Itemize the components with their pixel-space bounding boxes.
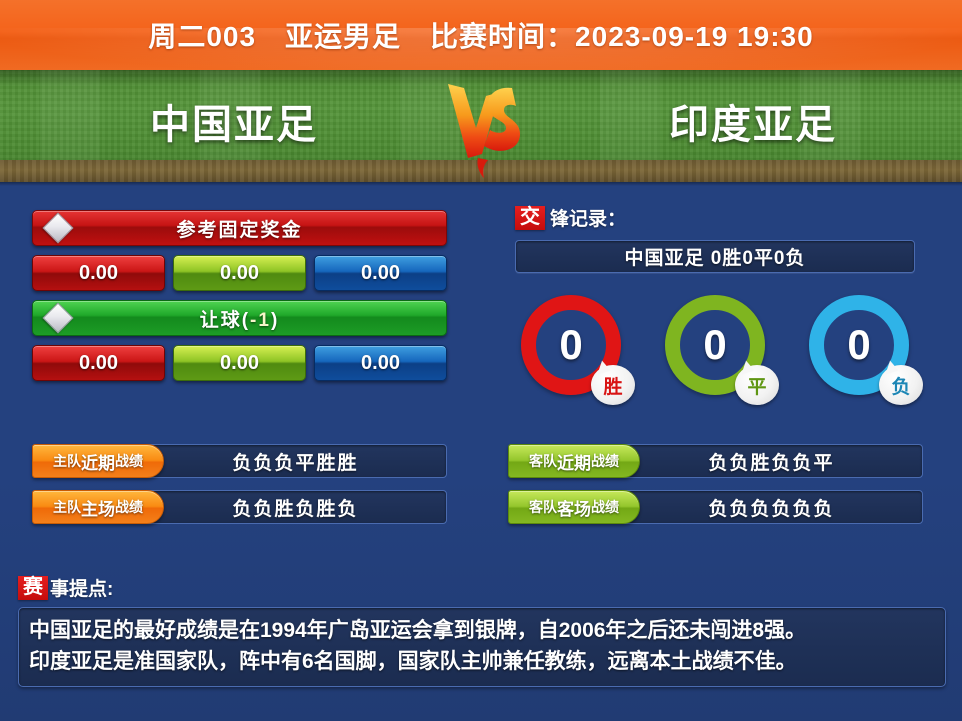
h2h-section-header: 交 锋记录：: [515, 204, 915, 231]
away-away-form-value: 负负负负负负: [708, 494, 834, 521]
match-header-title: 周二003 亚运男足 比赛时间：2023-09-19 19:30: [148, 15, 813, 55]
away-form-block: 负负胜负负平 客队近期战绩 负负负负负负 客队客场战绩: [508, 444, 923, 536]
tag-part-b: 近期: [81, 449, 115, 474]
tag-part-a: 客队: [529, 451, 557, 471]
away-away-form-row: 负负负负负负 客队客场战绩: [508, 490, 923, 524]
handicap-header: 让球(-1): [32, 300, 447, 336]
handicap-odds-row: 0.00 0.00 0.00: [32, 345, 447, 381]
notes-chip-icon: 赛: [18, 576, 48, 600]
tag-part-b: 近期: [557, 449, 591, 474]
h2h-win-badge: 胜: [591, 365, 635, 405]
h2h-summary-text: 中国亚足 0胜0平0负: [625, 243, 806, 270]
away-recent-form-row: 负负胜负负平 客队近期战绩: [508, 444, 923, 478]
home-recent-form-value: 负负负平胜胜: [232, 448, 358, 475]
match-header-bar: 周二003 亚运男足 比赛时间：2023-09-19 19:30: [0, 0, 962, 70]
h2h-ring-draw: 0 平: [665, 295, 765, 395]
away-team-name: 印度亚足: [669, 92, 837, 150]
fixed-odds-home[interactable]: 0.00: [32, 255, 165, 291]
home-form-block: 负负负平胜胜 主队近期战绩 负负胜负胜负 主队主场战绩: [32, 444, 447, 536]
h2h-ring-lose: 0 负: [809, 295, 909, 395]
odds-panel: 参考固定奖金 0.00 0.00 0.00 让球(-1) 0.00 0.00 0…: [32, 210, 447, 390]
fixed-odds-away[interactable]: 0.00: [314, 255, 447, 291]
fixed-prize-odds-row: 0.00 0.00 0.00: [32, 255, 447, 291]
main-content-area: 参考固定奖金 0.00 0.00 0.00 让球(-1) 0.00 0.00 0…: [0, 182, 962, 721]
notes-box: 中国亚足的最好成绩是在1994年广岛亚运会拿到银牌，自2006年之后还未闯进8强…: [18, 607, 946, 687]
h2h-rings: 0 胜 0 平 0 负: [515, 295, 915, 395]
pitch-banner: 中国亚足 印度亚足: [0, 70, 962, 182]
note-line: 中国亚足的最好成绩是在1994年广岛亚运会拿到银牌，自2006年之后还未闯进8强…: [29, 615, 935, 646]
diamond-icon: [42, 212, 73, 243]
h2h-lose-badge: 负: [879, 365, 923, 405]
h2h-draw-badge: 平: [735, 365, 779, 405]
notes-section-title: 事提点:: [50, 574, 113, 601]
handicap-odds-home[interactable]: 0.00: [32, 345, 165, 381]
notes-section-header: 赛 事提点:: [18, 574, 946, 601]
h2h-section-title: 锋记录：: [550, 204, 626, 231]
tag-part-c: 战绩: [115, 451, 143, 471]
tag-part-c: 战绩: [115, 497, 143, 517]
tag-part-a: 主队: [53, 451, 81, 471]
handicap-value: -1: [250, 310, 271, 331]
home-team-name: 中国亚足: [150, 92, 318, 150]
home-home-form-tag: 主队主场战绩: [32, 490, 164, 524]
away-away-form-tag: 客队客场战绩: [508, 490, 640, 524]
note-line: 印度亚足是准国家队，阵中有6名国脚，国家队主帅兼任教练，远离本土战绩不佳。: [29, 646, 935, 677]
home-recent-form-row: 负负负平胜胜 主队近期战绩: [32, 444, 447, 478]
away-recent-form-value: 负负胜负负平: [708, 448, 834, 475]
vs-icon: [426, 76, 536, 180]
tag-part-c: 战绩: [591, 451, 619, 471]
home-recent-form-tag: 主队近期战绩: [32, 444, 164, 478]
tag-part-a: 主队: [53, 497, 81, 517]
fixed-prize-header: 参考固定奖金: [32, 210, 447, 246]
handicap-prefix: 让球(: [200, 310, 250, 331]
h2h-ring-win: 0 胜: [521, 295, 621, 395]
h2h-summary-bar: 中国亚足 0胜0平0负: [515, 240, 915, 273]
tag-part-b: 主场: [81, 495, 115, 520]
handicap-suffix: ): [271, 310, 279, 331]
diamond-icon: [42, 302, 73, 333]
handicap-title: 让球(-1): [200, 305, 280, 332]
fixed-prize-title: 参考固定奖金: [176, 215, 302, 242]
tag-part-a: 客队: [529, 497, 557, 517]
head-to-head-panel: 交 锋记录： 中国亚足 0胜0平0负 0 胜 0 平 0 负: [515, 204, 915, 395]
handicap-odds-away[interactable]: 0.00: [314, 345, 447, 381]
handicap-odds-draw[interactable]: 0.00: [173, 345, 306, 381]
h2h-chip-icon: 交: [515, 206, 545, 230]
match-notes-panel: 赛 事提点: 中国亚足的最好成绩是在1994年广岛亚运会拿到银牌，自2006年之…: [18, 574, 946, 687]
home-home-form-row: 负负胜负胜负 主队主场战绩: [32, 490, 447, 524]
tag-part-b: 客场: [557, 495, 591, 520]
fixed-odds-draw[interactable]: 0.00: [173, 255, 306, 291]
away-recent-form-tag: 客队近期战绩: [508, 444, 640, 478]
home-home-form-value: 负负胜负胜负: [232, 494, 358, 521]
tag-part-c: 战绩: [591, 497, 619, 517]
